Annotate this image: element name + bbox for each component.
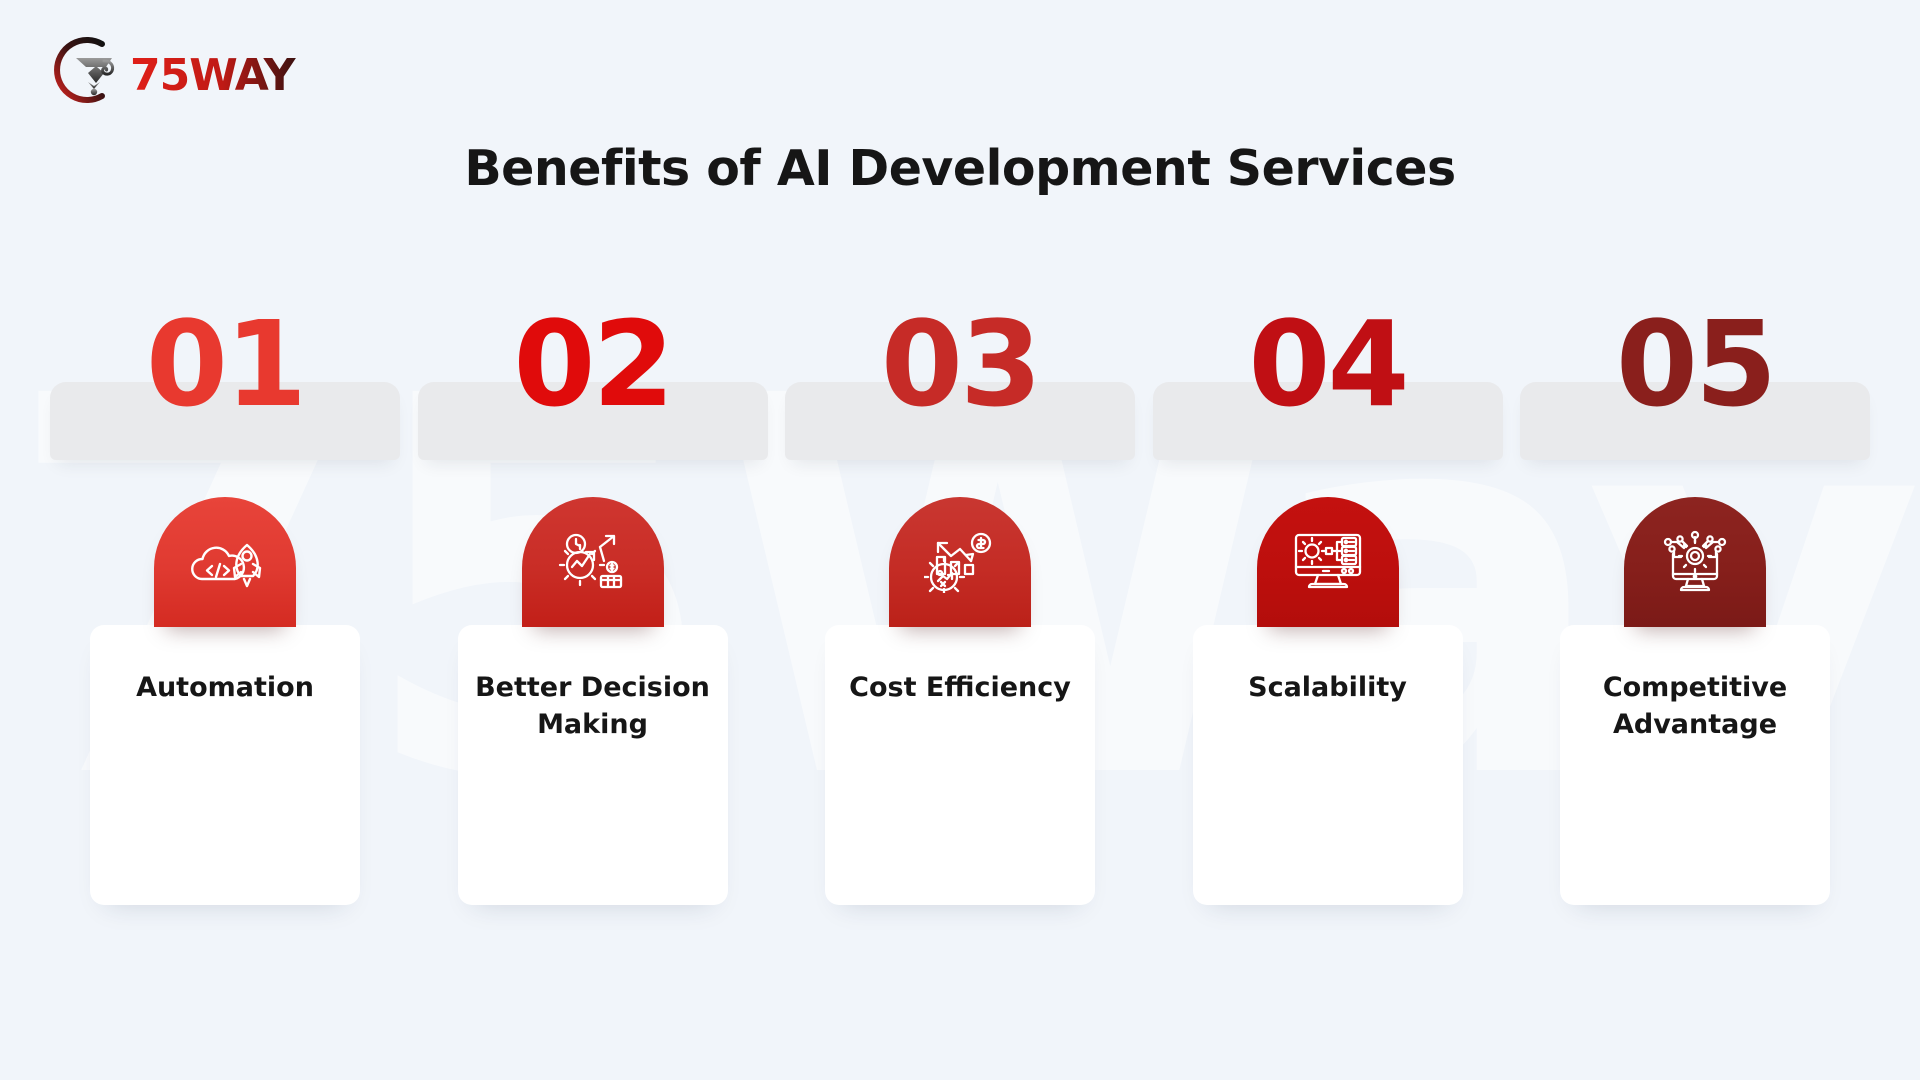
benefit-label-2: Better Decision Making bbox=[458, 669, 728, 745]
benefit-icon-badge-1[interactable] bbox=[154, 497, 296, 627]
benefit-card-5[interactable]: Competitive Advantage bbox=[1560, 625, 1830, 905]
benefit-icon-badge-5[interactable] bbox=[1624, 497, 1766, 627]
benefit-number-4: 04 bbox=[1248, 310, 1406, 419]
benefit-number-2: 02 bbox=[513, 310, 671, 419]
benefit-icon-badge-2[interactable] bbox=[522, 497, 664, 627]
clock-gear-growth-chart-icon bbox=[556, 531, 630, 593]
benefit-column-1[interactable]: 01 Automation bbox=[60, 310, 390, 990]
brand-logo[interactable]: 75WAY bbox=[44, 34, 314, 106]
benefit-card-2[interactable]: Better Decision Making bbox=[458, 625, 728, 905]
benefit-label-1: Automation bbox=[90, 669, 360, 707]
benefit-column-2[interactable]: 02 Better Decision Making bbox=[428, 310, 758, 990]
benefit-number-1: 01 bbox=[146, 310, 304, 419]
benefit-label-3: Cost Efficiency bbox=[825, 669, 1095, 707]
benefit-number-3: 03 bbox=[881, 310, 1039, 419]
benefit-number-5: 05 bbox=[1616, 310, 1774, 419]
benefit-column-4[interactable]: 04 Scal bbox=[1163, 310, 1493, 990]
cloud-code-rocket-icon bbox=[188, 532, 262, 592]
svg-text:75WAY: 75WAY bbox=[130, 50, 297, 101]
benefits-board: 01 Automation 02 bbox=[60, 310, 1860, 990]
benefit-icon-badge-3[interactable] bbox=[889, 497, 1031, 627]
monitor-gear-server-list-icon bbox=[1290, 531, 1366, 593]
benefit-label-5: Competitive Advantage bbox=[1560, 669, 1830, 745]
benefit-card-3[interactable]: Cost Efficiency bbox=[825, 625, 1095, 905]
benefit-column-5[interactable]: 05 Competitive Advantage bbox=[1530, 310, 1860, 990]
benefit-label-4: Scalability bbox=[1193, 669, 1463, 707]
monitor-gear-network-nodes-icon bbox=[1659, 530, 1731, 594]
benefit-icon-badge-4[interactable] bbox=[1257, 497, 1399, 627]
benefit-card-4[interactable]: Scalability bbox=[1193, 625, 1463, 905]
declining-chart-dollar-gear-icon bbox=[924, 531, 996, 593]
benefit-column-3[interactable]: 03 Cost Efficiency bbox=[795, 310, 1125, 990]
logo-bird-icon bbox=[76, 58, 113, 95]
page-title: Benefits of AI Development Services bbox=[0, 140, 1920, 197]
benefit-card-1[interactable]: Automation bbox=[90, 625, 360, 905]
